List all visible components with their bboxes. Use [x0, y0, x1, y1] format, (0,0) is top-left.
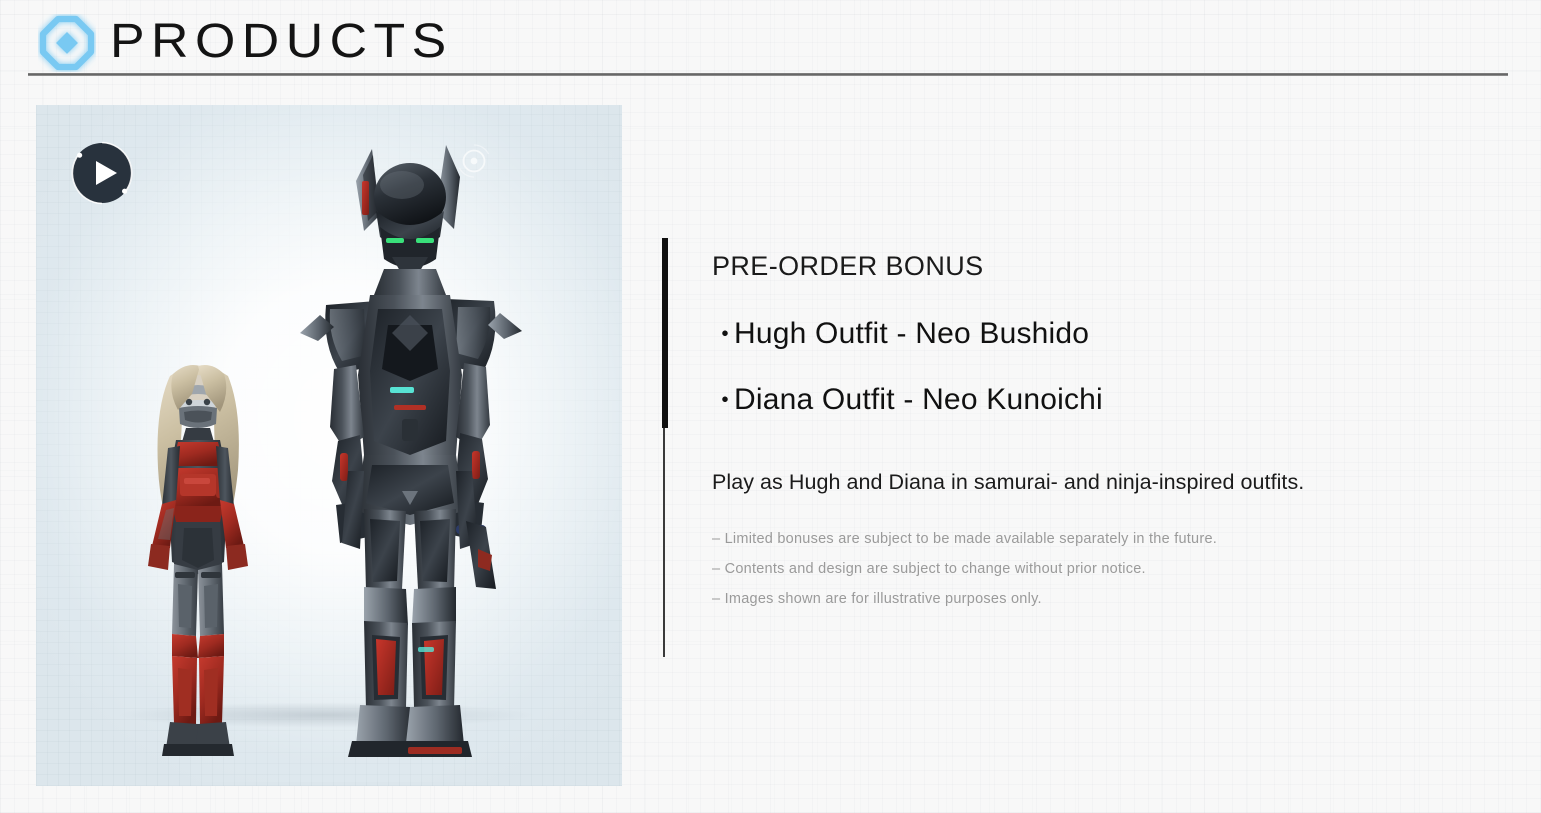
- product-media-panel[interactable]: [36, 105, 622, 786]
- page-header: PRODUCTS: [0, 0, 1541, 86]
- bonus-content: PRE-ORDER BONUS ・Hugh Outfit - Neo Bushi…: [712, 232, 1512, 614]
- diamond-octagon-logo-icon: [38, 14, 96, 72]
- accent-bar-primary: [662, 238, 668, 428]
- accent-bar-secondary: [663, 428, 665, 657]
- bonus-item-label: Hugh Outfit - Neo Bushido: [734, 317, 1089, 350]
- bonus-item-label: Diana Outfit - Neo Kunoichi: [734, 383, 1103, 416]
- bullet-icon: ・: [712, 301, 734, 367]
- bonus-heading: PRE-ORDER BONUS: [712, 249, 1512, 283]
- header-divider: [28, 73, 1508, 76]
- play-video-button[interactable]: [65, 136, 139, 210]
- bonus-tagline: Play as Hugh and Diana in samurai- and n…: [712, 468, 1512, 496]
- note-line: – Contents and design are subject to cha…: [712, 554, 1512, 584]
- list-item: ・Hugh Outfit - Neo Bushido: [712, 301, 1512, 367]
- bonus-item-list: ・Hugh Outfit - Neo Bushido ・Diana Outfit…: [712, 301, 1512, 433]
- products-page: PRODUCTS: [0, 0, 1541, 813]
- preorder-bonus-section: PRE-ORDER BONUS ・Hugh Outfit - Neo Bushi…: [662, 232, 1512, 662]
- target-reticle-icon: [454, 141, 494, 181]
- page-title: PRODUCTS: [110, 13, 453, 71]
- character-diana-art: [118, 350, 278, 770]
- note-line: – Images shown are for illustrative purp…: [712, 584, 1512, 614]
- disclaimer-notes: – Limited bonuses are subject to be made…: [712, 524, 1512, 614]
- list-item: ・Diana Outfit - Neo Kunoichi: [712, 367, 1512, 433]
- bullet-icon: ・: [712, 367, 734, 433]
- character-hugh-mech-art: [260, 119, 560, 769]
- note-line: – Limited bonuses are subject to be made…: [712, 524, 1512, 554]
